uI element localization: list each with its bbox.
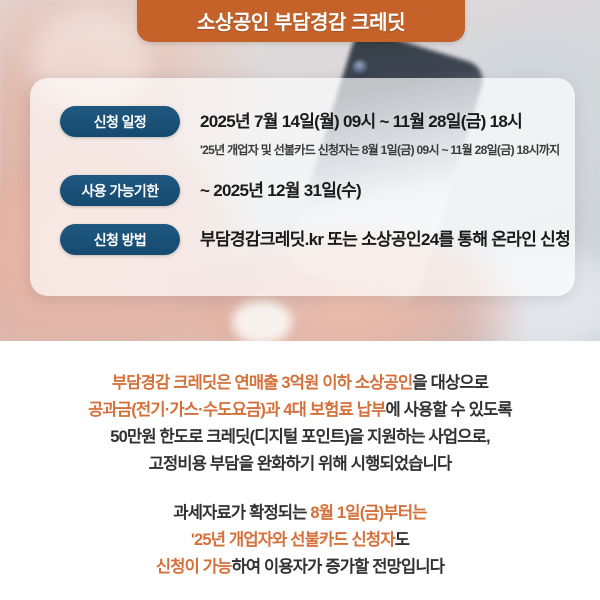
poster-root: 소상공인 부담경감 크레딧 신청 일정 2025년 7월 14일(월) 09시 … [0,0,600,600]
p2l1-highlight: 8월 1일(금)부터는 [310,504,426,522]
info-row-method: 신청 방법 부담경감크레딧.kr 또는 소상공인24를 통해 온라인 신청 [60,224,570,255]
label-pill-period: 사용 가능기한 [60,175,180,206]
schedule-value: 2025년 7월 14일(월) 09시 ~ 11월 28일(금) 18시 [200,107,559,136]
p2l3-plain-after: 하여 이용자가 증가할 전망입니다 [232,558,445,576]
method-value: 부담경감크레딧.kr 또는 소상공인24를 통해 온라인 신청 [200,225,570,254]
paragraph2-line2: '25년 개업자와 선불카드 신청자도 [0,527,600,554]
paragraph1-line2: 공과금(전기·가스·수도요금)과 4대 보험료 납부에 사용할 수 있도록 [0,397,600,424]
schedule-note: '25년 개업자 및 선불카드 신청자는 8월 1일(금) 09시 ~ 11월 … [200,141,559,158]
paragraph2-line1: 과세자료가 확정되는 8월 1일(금)부터는 [0,500,600,527]
info-row-schedule: 신청 일정 2025년 7월 14일(월) 09시 ~ 11월 28일(금) 1… [60,106,559,158]
label-pill-method: 신청 방법 [60,224,180,255]
p1l3-plain: 50만원 한도로 크레딧(디지털 포인트)을 지원하는 사업으로, [110,428,490,446]
p1l1-highlight: 부담경감 크레딧은 연매출 3억원 이하 소상공인 [112,374,413,392]
p1l2-plain: 에 사용할 수 있도록 [385,401,511,419]
p1l4-plain: 고정비용 부담을 완화하기 위해 시행되었습니다 [149,455,452,473]
description-paragraph-1: 부담경감 크레딧은 연매출 3억원 이하 소상공인을 대상으로 공과금(전기·가… [0,370,600,478]
info-row-period: 사용 가능기한 ~ 2025년 12월 31일(수) [60,175,361,206]
p2l3-highlight: 신청이 가능 [156,558,232,576]
thumb-shape [232,300,292,341]
title-banner: 소상공인 부담경감 크레딧 [137,0,465,42]
p1l2-highlight: 공과금(전기·가스·수도요금)과 4대 보험료 납부 [88,401,385,419]
description-section: 부담경감 크레딧은 연매출 3억원 이하 소상공인을 대상으로 공과금(전기·가… [0,341,600,600]
paragraph2-line3: 신청이 가능하여 이용자가 증가할 전망입니다 [0,554,600,581]
p1l1-plain: 을 대상으로 [412,374,488,392]
p2l1-plain-before: 과세자료가 확정되는 [173,504,310,522]
description-paragraph-2: 과세자료가 확정되는 8월 1일(금)부터는 '25년 개업자와 선불카드 신청… [0,500,600,581]
p2l2-highlight: '25년 개업자와 선불카드 신청자 [191,531,395,549]
info-row-schedule-body: 2025년 7월 14일(월) 09시 ~ 11월 28일(금) 18시 '25… [200,106,559,158]
info-row-method-body: 부담경감크레딧.kr 또는 소상공인24를 통해 온라인 신청 [200,224,570,254]
paragraph1-line4: 고정비용 부담을 완화하기 위해 시행되었습니다 [0,451,600,478]
poster-title: 소상공인 부담경감 크레딧 [197,6,405,35]
info-card: 신청 일정 2025년 7월 14일(월) 09시 ~ 11월 28일(금) 1… [30,78,575,296]
info-row-period-body: ~ 2025년 12월 31일(수) [200,175,361,205]
paragraph1-line3: 50만원 한도로 크레딧(디지털 포인트)을 지원하는 사업으로, [0,424,600,451]
label-pill-schedule: 신청 일정 [60,106,180,137]
period-value: ~ 2025년 12월 31일(수) [200,176,361,205]
p2l2-plain-after: 도 [395,531,409,549]
paragraph1-line1: 부담경감 크레딧은 연매출 3억원 이하 소상공인을 대상으로 [0,370,600,397]
